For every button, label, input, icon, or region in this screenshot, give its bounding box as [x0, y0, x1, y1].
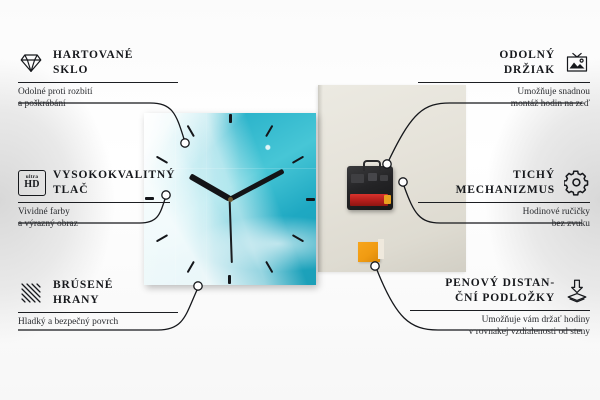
feature-header: BRÚSENÉ HRANY — [18, 278, 183, 307]
feature-title: BRÚSENÉ HRANY — [53, 278, 113, 307]
feature-divider — [18, 312, 178, 313]
feature-header: ultra HD VYSOKOKVALITNÝ TLAČ — [18, 168, 176, 197]
feature-description: Umožňuje vám držať hodiny v rovnakej vzd… — [404, 315, 590, 338]
feature-header: PENOVÝ DISTAN- ČNÍ PODLOŽKY — [404, 276, 590, 305]
print-seam — [206, 113, 207, 285]
feature-title: ODOLNÝ DRŽIAK — [499, 48, 555, 77]
ultra-hd-icon: ultra HD — [18, 170, 44, 196]
feature-divider — [410, 310, 590, 311]
feature-title: TICHÝ MECHANIZMUS — [456, 168, 555, 197]
feature-title: PENOVÝ DISTAN- ČNÍ PODLOŽKY — [445, 276, 555, 305]
feature-header: HARTOVANÉ SKLO — [18, 48, 183, 77]
feature-description: Odolné proti rozbití a poškrábání — [18, 87, 183, 110]
feature-divider — [18, 202, 170, 203]
feature-foam-spacers: PENOVÝ DISTAN- ČNÍ PODLOŽKY Umožňuje vám… — [404, 276, 590, 338]
feature-description: Hodinové ručičky bez zvuku — [412, 207, 590, 230]
clock-tick — [229, 114, 232, 123]
clock-tick — [306, 198, 315, 201]
feature-header: ODOLNÝ DRŽIAK — [412, 48, 590, 77]
feature-header: TICHÝ MECHANIZMUS — [412, 168, 590, 197]
wall-panel-edge — [318, 85, 323, 272]
feature-tempered-glass: HARTOVANÉ SKLO Odolné proti rozbití a po… — [18, 48, 183, 110]
gear-icon — [564, 170, 590, 196]
feature-durable-holder: ODOLNÝ DRŽIAK Umožňuje snadnou montáž ho… — [412, 48, 590, 110]
diamond-icon — [18, 50, 44, 76]
mechanism-hanger — [363, 160, 381, 171]
clock-mechanism — [347, 166, 393, 210]
clock-tick — [228, 275, 231, 284]
battery-positive-terminal — [384, 195, 391, 204]
feature-description: Vividné farby a výrazný obraz — [18, 207, 176, 230]
clock-center-hub — [228, 197, 233, 202]
feature-description: Hladký a bezpečný povrch — [18, 317, 183, 329]
picture-frame-icon — [564, 50, 590, 76]
feature-divider — [418, 82, 590, 83]
feature-divider — [18, 82, 178, 83]
mechanism-housing-detail — [351, 174, 364, 183]
foam-spacer-pad — [358, 242, 380, 262]
aa-battery — [350, 194, 388, 206]
stacked-pads-arrow-icon — [564, 278, 590, 304]
feature-title: VYSOKOKVALITNÝ TLAČ — [53, 168, 175, 197]
mechanism-housing-detail — [368, 173, 377, 181]
ultra-hd-label: HD — [24, 180, 39, 190]
feature-divider — [418, 202, 590, 203]
feature-title: HARTOVANÉ SKLO — [53, 48, 133, 77]
feature-silent-mechanism: TICHÝ MECHANIZMUS Hodinové ručičky bez z… — [412, 168, 590, 230]
feature-high-quality-print: ultra HD VYSOKOKVALITNÝ TLAČ Vividné far… — [18, 168, 176, 230]
feature-description: Umožňuje snadnou montáž hodin na zeď — [412, 87, 590, 110]
infographic-canvas: HARTOVANÉ SKLO Odolné proti rozbití a po… — [0, 0, 600, 400]
feature-ground-edges: BRÚSENÉ HRANY Hladký a bezpečný povrch — [18, 278, 183, 329]
diagonal-lines-icon — [18, 280, 44, 306]
foam-pad-side — [378, 239, 384, 259]
mechanism-housing-detail — [380, 175, 388, 181]
